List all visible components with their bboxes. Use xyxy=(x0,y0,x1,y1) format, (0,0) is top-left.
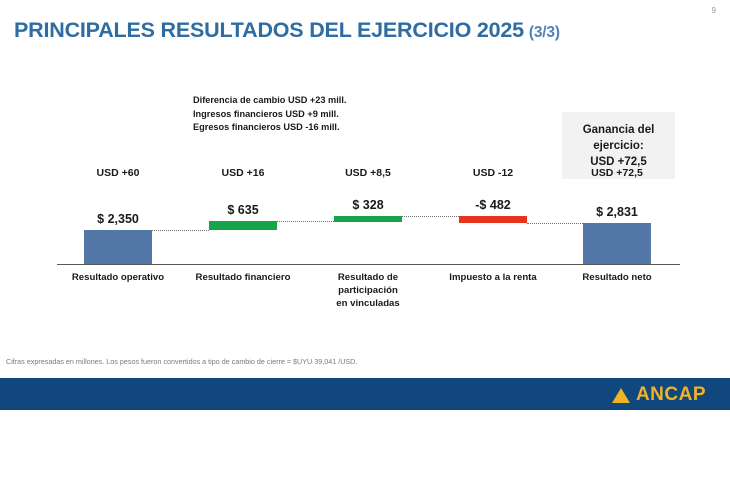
chart-bar xyxy=(209,221,277,230)
chart-connector-line xyxy=(527,223,583,224)
bar-usd-label: USD +60 xyxy=(97,167,140,179)
chart-axis-line xyxy=(57,264,680,265)
chart-connector-line xyxy=(277,221,334,222)
chart-category-label-line: Impuesto a la renta xyxy=(449,271,536,284)
brand-name: ANCAP xyxy=(636,384,706,406)
page-number: 9 xyxy=(712,6,716,15)
chart-category-label: Resultado financiero xyxy=(196,271,291,284)
page-title: PRINCIPALES RESULTADOS DEL EJERCICIO 202… xyxy=(14,18,560,43)
chart-bar xyxy=(583,223,651,264)
chart-category-label: Resultado departicipaciónen vinculadas xyxy=(336,271,399,310)
chart-category-label-line: en vinculadas xyxy=(336,297,399,310)
bar-value-label: $ 2,350 xyxy=(97,212,139,226)
bar-value-label: $ 635 xyxy=(227,203,258,217)
chart-category-label: Impuesto a la renta xyxy=(449,271,536,284)
chart-category-label: Resultado neto xyxy=(582,271,651,284)
chart-connector-line xyxy=(402,216,459,217)
bar-usd-label: USD -12 xyxy=(473,167,513,179)
chart-category-label-line: Resultado financiero xyxy=(196,271,291,284)
bar-usd-label: USD +16 xyxy=(222,167,265,179)
chart-category-label-line: Resultado operativo xyxy=(72,271,164,284)
bar-value-label: $ 2,831 xyxy=(596,205,638,219)
slide-canvas: 9 PRINCIPALES RESULTADOS DEL EJERCICIO 2… xyxy=(0,0,730,482)
ancap-logo: ANCAP xyxy=(612,384,706,406)
bar-usd-label: USD +8,5 xyxy=(345,167,391,179)
financial-note-line-3: Egresos financieros USD -16 mill. xyxy=(193,121,346,135)
chart-category-label-line: Resultado neto xyxy=(582,271,651,284)
chart-category-label-line: participación xyxy=(336,284,399,297)
bar-usd-label: USD +72,5 xyxy=(591,167,643,179)
chart-bar xyxy=(459,216,527,223)
profit-callout-line-2: ejercicio: xyxy=(593,138,644,154)
footnote: Cifras expresadas en millones. Los pesos… xyxy=(6,357,357,366)
bar-value-label: -$ 482 xyxy=(475,198,510,212)
chart-bar xyxy=(334,216,402,222)
financial-note-line-2: Ingresos financieros USD +9 mill. xyxy=(193,108,346,122)
page-title-suffix: (3/3) xyxy=(529,24,560,41)
chart-category-label: Resultado operativo xyxy=(72,271,164,284)
financial-note-line-1: Diferencia de cambio USD +23 mill. xyxy=(193,94,346,108)
chart-bar xyxy=(84,230,152,264)
chart-category-label-line: Resultado de xyxy=(336,271,399,284)
profit-callout-line-1: Ganancia del xyxy=(583,122,655,138)
bar-value-label: $ 328 xyxy=(352,198,383,212)
financial-note: Diferencia de cambio USD +23 mill. Ingre… xyxy=(193,94,346,135)
page-title-main: PRINCIPALES RESULTADOS DEL EJERCICIO 202… xyxy=(14,18,524,42)
chart-connector-line xyxy=(152,230,209,231)
triangle-icon xyxy=(612,388,630,403)
